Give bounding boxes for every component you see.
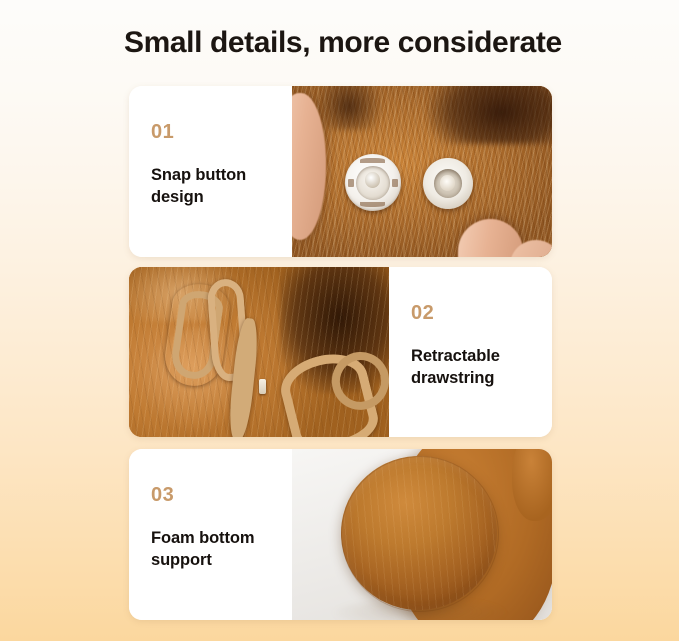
- feature-title: Retractable drawstring: [411, 345, 546, 389]
- feature-title: Foam bottom support: [151, 527, 286, 571]
- snap-button-socket: [423, 158, 472, 209]
- feature-title: Snap button design: [151, 164, 286, 208]
- foam-bottom-photo: [292, 449, 552, 620]
- feature-card-01: 01 Snap button design: [129, 86, 552, 257]
- feature-card-03: 03 Foam bottom support: [129, 449, 552, 620]
- photo-shadow-top: [427, 86, 552, 144]
- feature-card-02: 02 Retractable drawstring: [129, 267, 552, 437]
- snap-notch: [348, 179, 354, 187]
- feature-number: 03: [151, 484, 174, 507]
- snap-notch: [360, 158, 385, 163]
- page-title: Small details, more considerate: [124, 24, 584, 62]
- feature-number: 02: [411, 302, 434, 325]
- snap-notch: [360, 202, 385, 207]
- drawstring-photo: [129, 267, 389, 437]
- feature-text-pane: 02 Retractable drawstring: [389, 267, 552, 437]
- feature-text-pane: 01 Snap button design: [129, 86, 292, 257]
- snap-button-stud: [345, 154, 401, 210]
- feature-number: 01: [151, 121, 174, 144]
- feature-text-pane: 03 Foam bottom support: [129, 449, 292, 620]
- photo-shadow-left: [315, 86, 383, 130]
- snap-notch: [392, 179, 398, 187]
- snap-button-photo: [292, 86, 552, 257]
- product-detail-infographic: Small details, more considerate 01 Snap …: [0, 0, 679, 641]
- drawstring-eyelet: [259, 379, 266, 394]
- plush-ear: [512, 449, 552, 521]
